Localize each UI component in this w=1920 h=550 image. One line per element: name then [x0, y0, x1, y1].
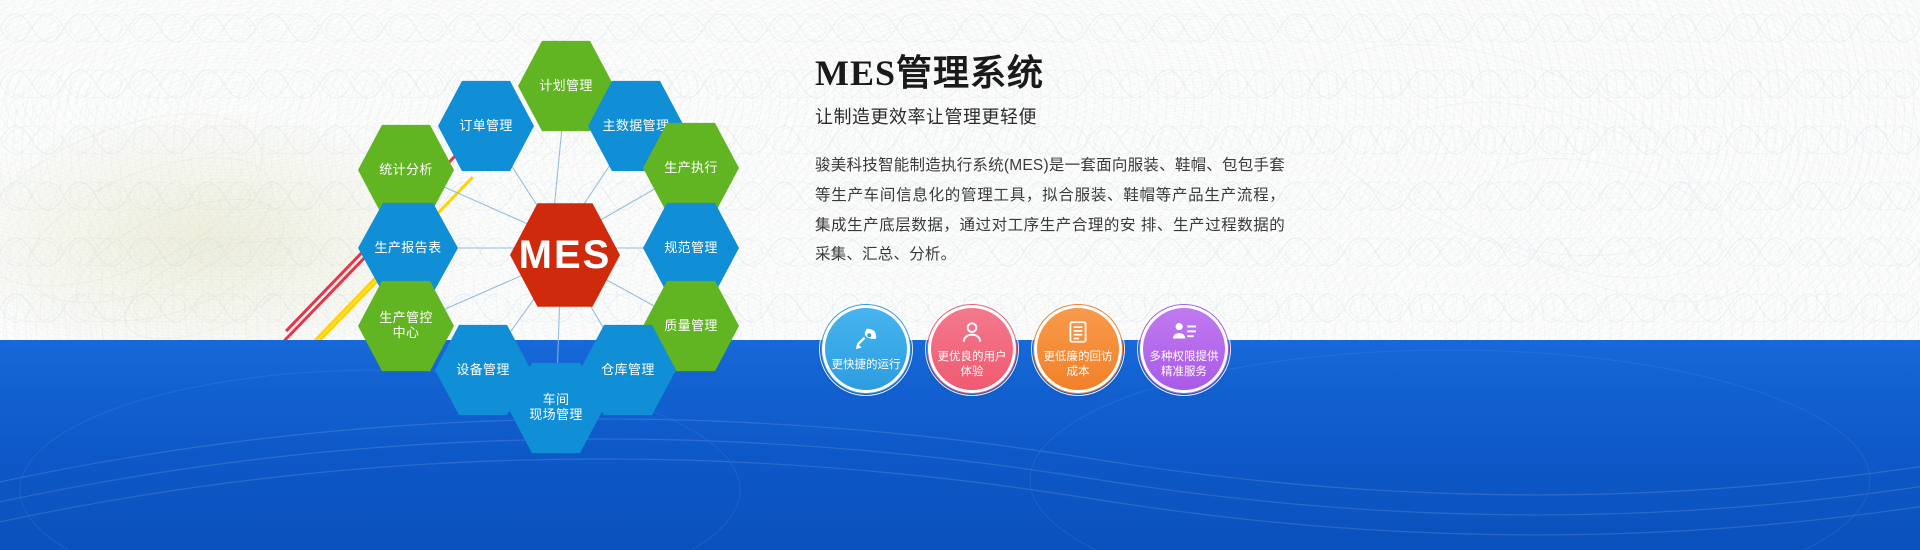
mes-hexagon-diagram: MES 计划管理订单管理主数据管理统计分析生产执行生产报告表规范管理生产管控 中… — [340, 20, 790, 440]
hex-core-label: MES — [519, 233, 612, 278]
hex-node-label: 主数据管理 — [602, 119, 669, 134]
page-subtitle: 让制造更效率让管理更轻便 — [815, 103, 1285, 129]
hex-node-label: 生产管控 中心 — [379, 311, 433, 340]
mes-promo-banner: MES 计划管理订单管理主数据管理统计分析生产执行生产报告表规范管理生产管控 中… — [0, 0, 1920, 550]
hex-node-label: 仓库管理 — [601, 363, 655, 378]
hex-node-label: 规范管理 — [664, 241, 718, 256]
hex-node-label: 设备管理 — [456, 363, 510, 378]
feature-badge[interactable]: 更优良的用户 体验 — [928, 305, 1016, 393]
feature-badge-row: 更快捷的运行更优良的用户 体验更低廉的回访 成本多种权限提供 精准服务 — [822, 305, 1228, 393]
user-list-icon — [1171, 319, 1197, 349]
page-description: 骏美科技智能制造执行系统(MES)是一套面向服装、鞋帽、包包手套等生产车间信息化… — [815, 151, 1285, 270]
user-icon — [959, 319, 985, 349]
page-title: MES管理系统 — [815, 52, 1285, 95]
feature-badge[interactable]: 更快捷的运行 — [822, 305, 910, 393]
feature-badge-label: 更快捷的运行 — [826, 358, 907, 372]
feature-badge[interactable]: 更低廉的回访 成本 — [1034, 305, 1122, 393]
feature-badge[interactable]: 多种权限提供 精准服务 — [1140, 305, 1228, 393]
feature-badge-label: 多种权限提供 精准服务 — [1144, 350, 1225, 379]
hex-node-label: 计划管理 — [539, 79, 593, 94]
feature-badge-label: 更优良的用户 体验 — [932, 350, 1013, 379]
hex-node-label: 生产报告表 — [374, 241, 441, 256]
hex-node-label: 订单管理 — [459, 119, 513, 134]
hex-node-label: 统计分析 — [379, 163, 433, 178]
document-icon — [1065, 319, 1091, 349]
banner-info-block: MES管理系统 让制造更效率让管理更轻便 骏美科技智能制造执行系统(MES)是一… — [815, 52, 1285, 270]
hex-node-label: 车间 现场管理 — [529, 393, 583, 422]
rocket-icon — [853, 326, 879, 356]
hex-node-label: 质量管理 — [664, 319, 718, 334]
feature-badge-label: 更低廉的回访 成本 — [1038, 350, 1119, 379]
hex-node-label: 生产执行 — [664, 161, 718, 176]
